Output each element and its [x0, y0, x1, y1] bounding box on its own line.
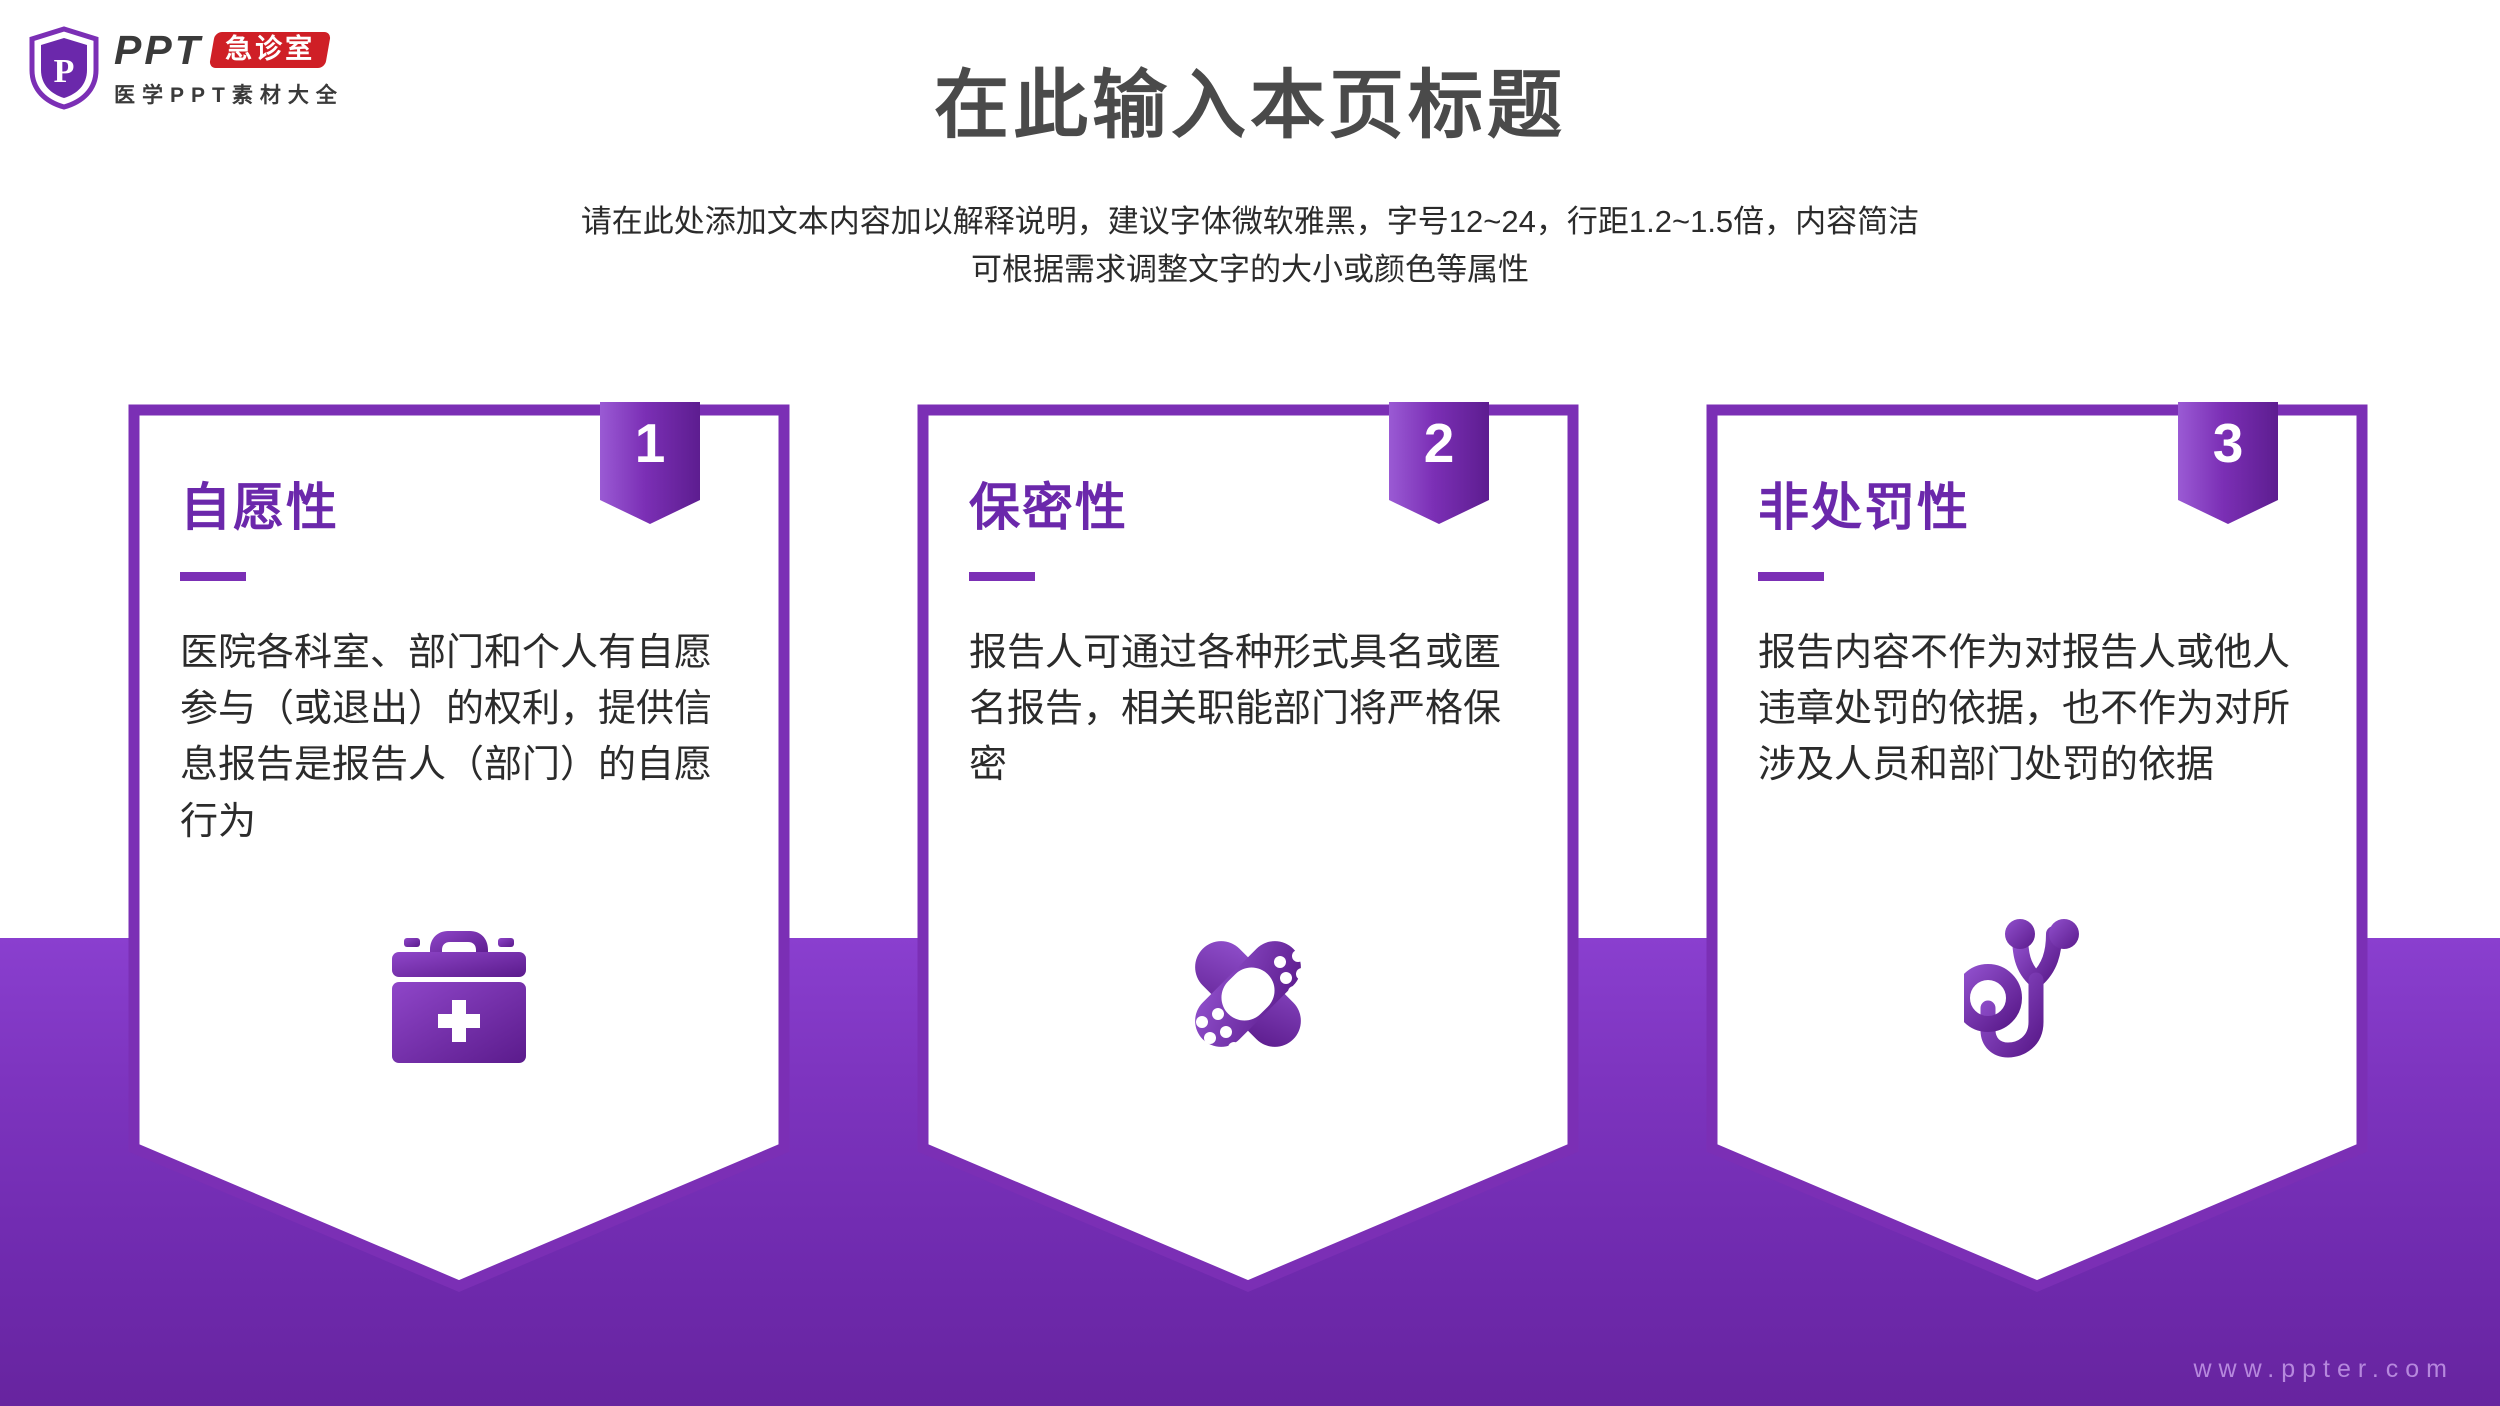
card-number: 2 [1389, 416, 1489, 471]
subtitle-line-1: 请在此处添加文本内容加以解释说明，建议字体微软雅黑，字号12~24，行距1.2~… [0, 198, 2500, 246]
medical-kit-icon [128, 924, 790, 1070]
page-title: 在此输入本页标题 [0, 44, 2500, 153]
card-item[interactable]: 1 自愿性 医院各科室、部门和个人有自愿参与（或退出）的权利，提供信息报告是报告… [128, 404, 790, 1292]
card-item[interactable]: 3 非处罚性 报告内容不作为对报告人或他人违章处罚的依据，也不作为对所涉及人员和… [1706, 404, 2368, 1292]
card-text: 报告内容不作为对报告人或他人违章处罚的依据，也不作为对所涉及人员和部门处罚的依据 [1758, 625, 2298, 794]
stethoscope-icon [1706, 918, 2368, 1070]
card-text: 报告人可通过各种形式具名或匿名报告，相关职能部门将严格保密 [969, 625, 1509, 794]
card-number-ribbon: 1 [600, 402, 700, 524]
subtitle-line-2: 可根据需求调整文字的大小或颜色等属性 [0, 246, 2500, 294]
bandage-cross-icon [917, 918, 1579, 1070]
card-number-ribbon: 2 [1389, 402, 1489, 524]
card-content: 自愿性 医院各科室、部门和个人有自愿参与（或退出）的权利，提供信息报告是报告人（… [128, 404, 790, 1292]
card-divider [180, 572, 246, 581]
page-subtitle: 请在此处添加文本内容加以解释说明，建议字体微软雅黑，字号12~24，行距1.2~… [0, 198, 2500, 294]
card-content: 非处罚性 报告内容不作为对报告人或他人违章处罚的依据，也不作为对所涉及人员和部门… [1706, 404, 2368, 1292]
site-watermark: www.ppter.com [2193, 1355, 2454, 1384]
card-divider [1758, 572, 1824, 581]
card-text: 医院各科室、部门和个人有自愿参与（或退出）的权利，提供信息报告是报告人（部门）的… [180, 625, 720, 850]
card-number: 3 [2178, 416, 2278, 471]
card-item[interactable]: 2 保密性 报告人可通过各种形式具名或匿名报告，相关职能部门将严格保密 [917, 404, 1579, 1292]
card-divider [969, 572, 1035, 581]
card-number: 1 [600, 416, 700, 471]
card-number-ribbon: 3 [2178, 402, 2278, 524]
card-content: 保密性 报告人可通过各种形式具名或匿名报告，相关职能部门将严格保密 [917, 404, 1579, 1292]
